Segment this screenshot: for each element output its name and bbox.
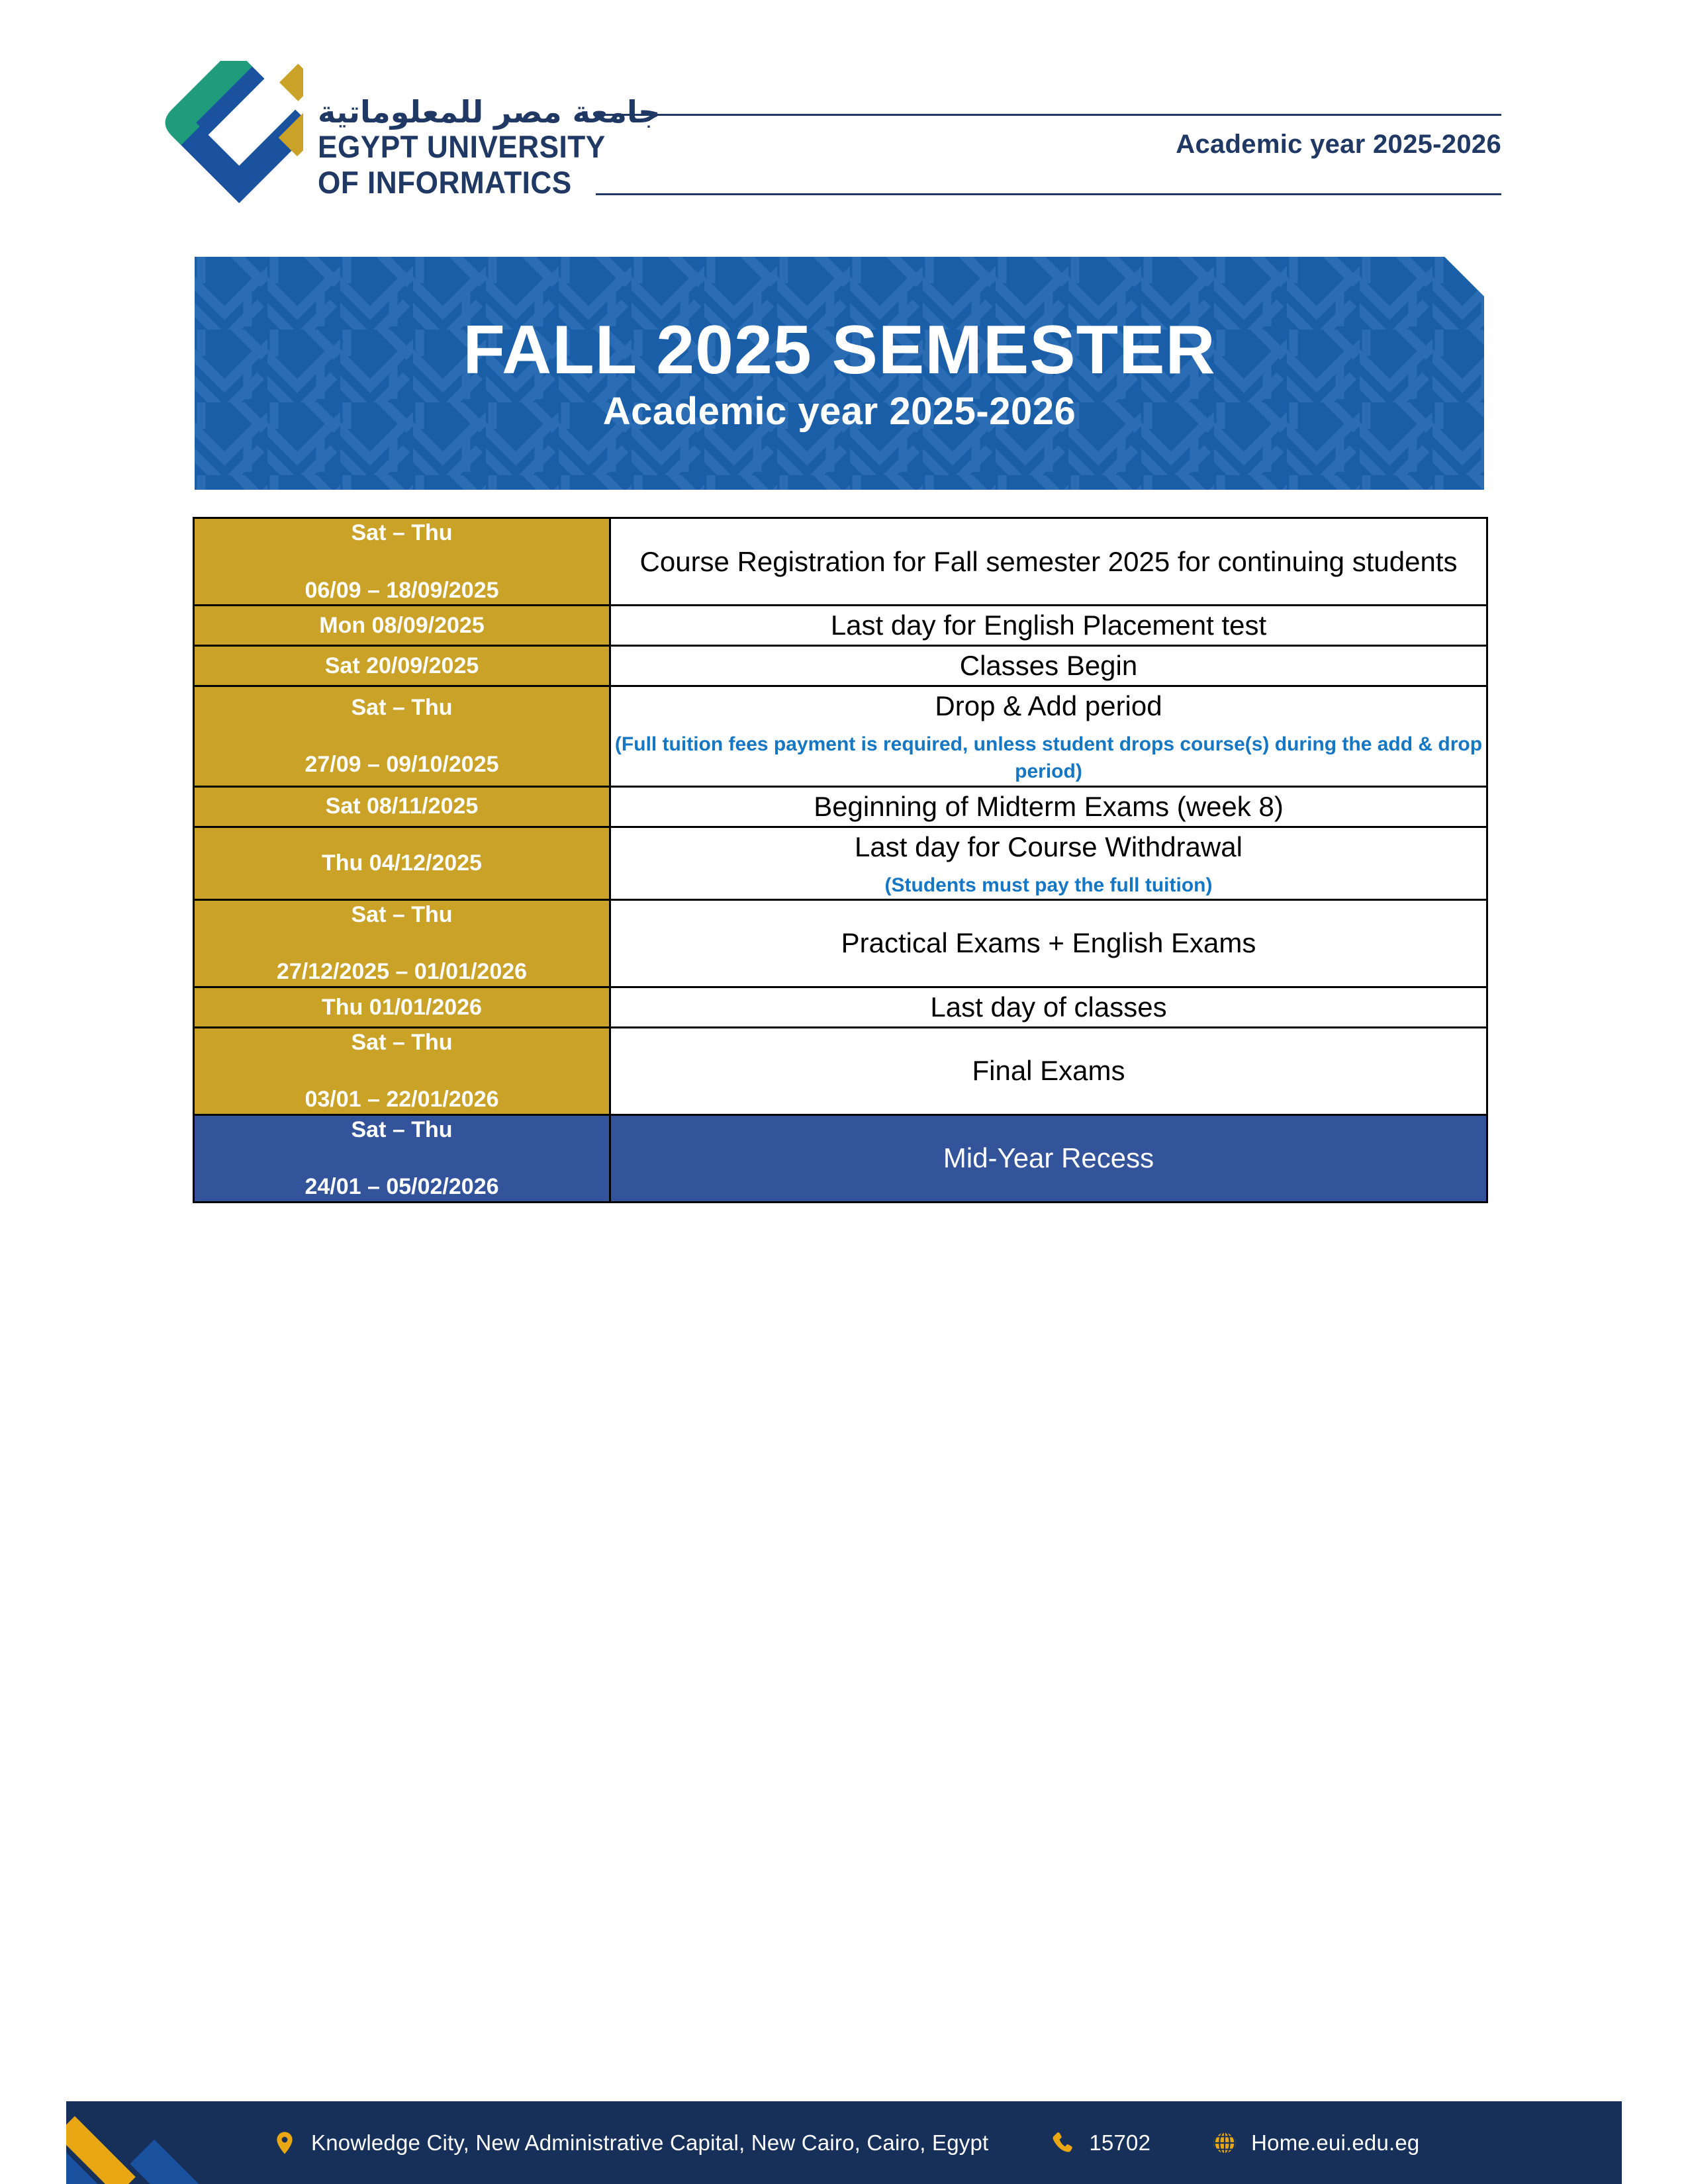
date-range: 27/12/2025 – 01/01/2026: [195, 958, 609, 986]
logo-english-line1: EGYPT UNIVERSITY: [318, 129, 639, 165]
table-row: Sat – Thu 03/01 – 22/01/2026 Final Exams: [194, 1027, 1487, 1115]
footer-website-item: Home.eui.edu.eg: [1211, 2130, 1419, 2156]
date-cell: Thu 04/12/2025: [194, 827, 610, 899]
date-days: Sat – Thu: [195, 1028, 609, 1057]
date-cell: Sat – Thu 06/09 – 18/09/2025: [194, 518, 610, 606]
logo-arabic-name: جامعة مصر للمعلوماتية: [318, 95, 660, 130]
date-range: Mon 08/09/2025: [195, 612, 609, 640]
date-cell: Sat – Thu 24/01 – 05/02/2026: [194, 1115, 610, 1202]
event-title: Drop & Add period: [935, 690, 1162, 721]
event-title: Beginning of Midterm Exams (week 8): [814, 791, 1284, 822]
date-days: Sat – Thu: [195, 694, 609, 722]
event-title: Mid-Year Recess: [943, 1142, 1154, 1173]
table-row: Sat – Thu 27/09 – 09/10/2025 Drop & Add …: [194, 686, 1487, 786]
footer-contact-list: Knowledge City, New Administrative Capit…: [271, 2101, 1419, 2184]
semester-banner: FALL 2025 SEMESTER Academic year 2025-20…: [195, 257, 1484, 490]
event-note: (Full tuition fees payment is required, …: [611, 731, 1486, 786]
footer-address-text: Knowledge City, New Administrative Capit…: [311, 2130, 988, 2156]
page-footer: Knowledge City, New Administrative Capit…: [66, 2101, 1622, 2184]
event-title: Last day for English Placement test: [831, 610, 1266, 641]
event-cell: Final Exams: [610, 1027, 1487, 1115]
event-title: Course Registration for Fall semester 20…: [640, 546, 1458, 577]
date-cell: Sat 20/09/2025: [194, 645, 610, 686]
eui-diamond-logo-icon: [154, 61, 303, 220]
date-range: Sat 20/09/2025: [195, 652, 609, 680]
table-row: Sat 20/09/2025 Classes Begin: [194, 645, 1487, 686]
event-title: Last day for Course Withdrawal: [855, 831, 1243, 862]
table-row: Sat – Thu 06/09 – 18/09/2025 Course Regi…: [194, 518, 1487, 606]
event-cell: Classes Begin: [610, 645, 1487, 686]
table-row-highlighted: Sat – Thu 24/01 – 05/02/2026 Mid-Year Re…: [194, 1115, 1487, 1202]
page-header: جامعة مصر للمعلوماتية EGYPT UNIVERSITY O…: [0, 0, 1688, 238]
event-title: Last day of classes: [930, 991, 1166, 1023]
academic-calendar-table: Sat – Thu 06/09 – 18/09/2025 Course Regi…: [193, 517, 1488, 1203]
event-note: (Students must pay the full tuition): [611, 872, 1486, 899]
table-row: Thu 04/12/2025 Last day for Course Withd…: [194, 827, 1487, 899]
date-range: Thu 01/01/2026: [195, 993, 609, 1022]
event-cell: Course Registration for Fall semester 20…: [610, 518, 1487, 606]
date-days: Sat – Thu: [195, 1116, 609, 1144]
date-range: 06/09 – 18/09/2025: [195, 576, 609, 605]
date-range: Thu 04/12/2025: [195, 849, 609, 878]
event-cell: Practical Exams + English Exams: [610, 899, 1487, 987]
date-range: 03/01 – 22/01/2026: [195, 1085, 609, 1114]
footer-phone-text: 15702: [1089, 2130, 1150, 2156]
event-cell: Beginning of Midterm Exams (week 8): [610, 786, 1487, 827]
event-cell: Drop & Add period (Full tuition fees pay…: [610, 686, 1487, 786]
table-row: Sat 08/11/2025 Beginning of Midterm Exam…: [194, 786, 1487, 827]
footer-chevron-decoration: [66, 2101, 278, 2184]
footer-website-text: Home.eui.edu.eg: [1251, 2130, 1419, 2156]
event-title: Final Exams: [972, 1055, 1125, 1086]
header-rule-bottom: [596, 193, 1501, 195]
logo-english-line2: OF INFORMATICS: [318, 165, 639, 201]
event-title: Practical Exams + English Exams: [841, 927, 1256, 958]
banner-title: FALL 2025 SEMESTER: [463, 314, 1215, 387]
date-cell: Sat 08/11/2025: [194, 786, 610, 827]
date-cell: Mon 08/09/2025: [194, 606, 610, 646]
university-logo: جامعة مصر للمعلوماتية EGYPT UNIVERSITY O…: [154, 61, 660, 220]
event-cell: Last day for Course Withdrawal (Students…: [610, 827, 1487, 899]
date-days: Sat – Thu: [195, 901, 609, 929]
date-cell: Sat – Thu 27/09 – 09/10/2025: [194, 686, 610, 786]
footer-phone-item: 15702: [1049, 2130, 1150, 2156]
table-row: Sat – Thu 27/12/2025 – 01/01/2026 Practi…: [194, 899, 1487, 987]
globe-icon: [1211, 2130, 1238, 2156]
banner-subtitle: Academic year 2025-2026: [603, 390, 1076, 433]
date-range: 27/09 – 09/10/2025: [195, 751, 609, 779]
header-academic-year: Academic year 2025-2026: [596, 130, 1501, 159]
event-cell: Last day for English Placement test: [610, 606, 1487, 646]
date-range: Sat 08/11/2025: [195, 792, 609, 821]
date-cell: Sat – Thu 03/01 – 22/01/2026: [194, 1027, 610, 1115]
phone-icon: [1049, 2130, 1076, 2156]
event-cell: Mid-Year Recess: [610, 1115, 1487, 1202]
footer-address-item: Knowledge City, New Administrative Capit…: [271, 2130, 988, 2156]
table-row: Mon 08/09/2025 Last day for English Plac…: [194, 606, 1487, 646]
date-cell: Thu 01/01/2026: [194, 987, 610, 1027]
date-cell: Sat – Thu 27/12/2025 – 01/01/2026: [194, 899, 610, 987]
calendar-table-body: Sat – Thu 06/09 – 18/09/2025 Course Regi…: [194, 518, 1487, 1203]
table-row: Thu 01/01/2026 Last day of classes: [194, 987, 1487, 1027]
header-rule-top: [596, 114, 1501, 116]
date-days: Sat – Thu: [195, 519, 609, 547]
banner-text-group: FALL 2025 SEMESTER Academic year 2025-20…: [195, 257, 1484, 490]
event-title: Classes Begin: [960, 650, 1137, 681]
date-range: 24/01 – 05/02/2026: [195, 1173, 609, 1201]
event-cell: Last day of classes: [610, 987, 1487, 1027]
location-pin-icon: [271, 2130, 298, 2156]
